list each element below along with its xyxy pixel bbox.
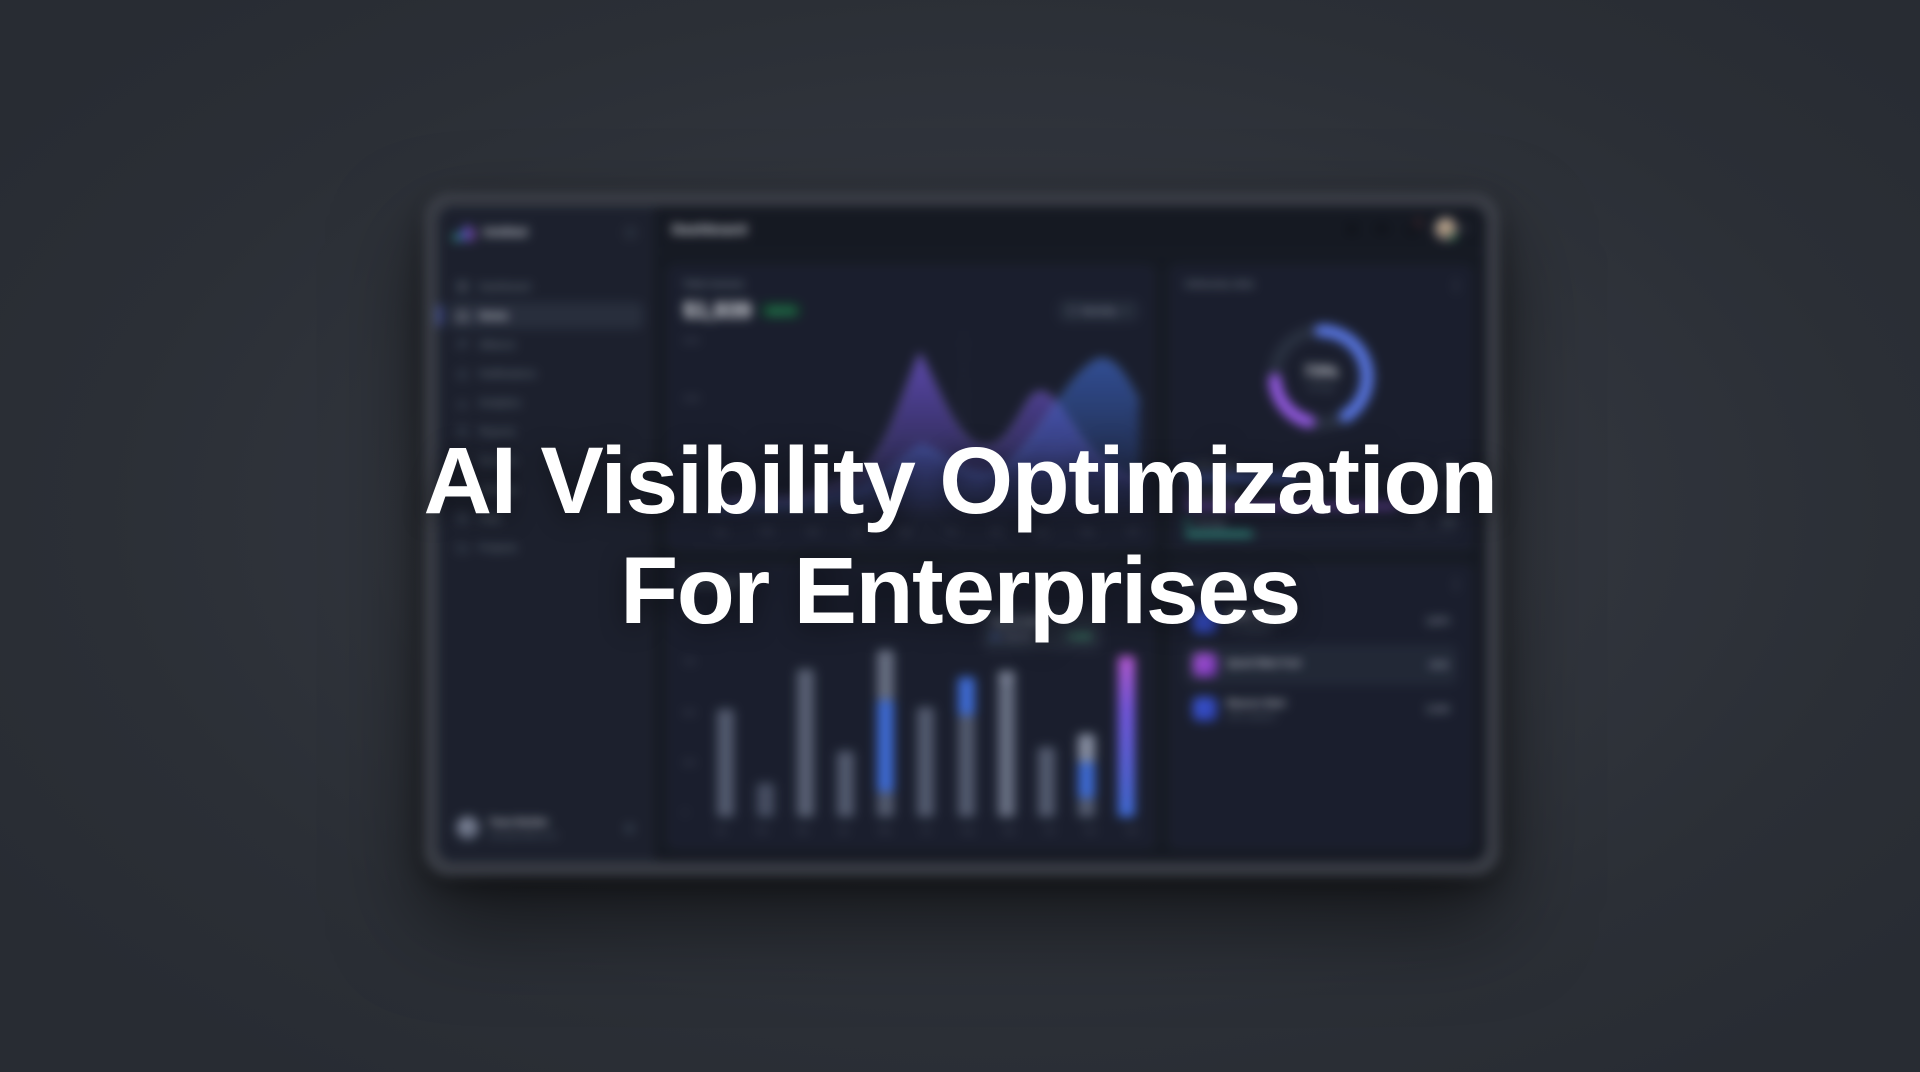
sidebar-item-label: Analytics: [479, 397, 521, 409]
donut-card-label: Unbounty stats: [1185, 279, 1254, 290]
x-tick: Mar: [797, 826, 810, 835]
document-icon: [456, 425, 469, 438]
revenue-metric-row: $1,939 +28.3% Monthly: [683, 297, 1139, 324]
right-column: Unbounty stats: [1168, 264, 1474, 850]
x-axis-labels: Jan Feb Mar Apr May Jun Jul Aug Sep Oc: [715, 527, 1139, 536]
series-dot-icon: [993, 634, 998, 639]
revenue-delta-badge: +28.3%: [760, 303, 801, 318]
x-tick: Dec: [1126, 826, 1139, 835]
y-tick: 250: [683, 758, 713, 767]
bar-card-head: Data amount: [683, 578, 1139, 593]
sidebar-item-help[interactable]: Help: [448, 505, 643, 532]
grid-icon: [456, 280, 469, 293]
avatar: [456, 816, 480, 840]
y-tick: 750: [683, 657, 713, 666]
chevron-down-icon[interactable]: [1462, 227, 1468, 231]
bar-column[interactable]: [877, 605, 894, 817]
legend-dot-icon: [1185, 492, 1190, 497]
list-item-meta: Quant Main Fuel: [1227, 658, 1301, 672]
x-tick: Aug: [961, 826, 974, 835]
line-plot-area: [715, 332, 1139, 518]
data-amount-card: Data amount 1000 750 500 250 0: [666, 563, 1156, 850]
help-icon: [456, 512, 469, 525]
bar-column[interactable]: [958, 605, 975, 817]
sidebar: Untitled Dashboard Home Alliance: [438, 206, 654, 862]
legend-top: API Usage 24 41%: [1185, 461, 1457, 471]
legend-pct: 34%: [1431, 490, 1457, 499]
donut-value: 73%: [1304, 362, 1338, 382]
x-tick: Sep: [1002, 826, 1015, 835]
legend-dot-icon: [1185, 464, 1190, 469]
sidebar-item-reports[interactable]: Reports: [448, 418, 643, 445]
sidebar-user-profile[interactable]: Team Builder team@untitled.com: [448, 808, 643, 848]
y-tick: 500: [683, 708, 713, 717]
tooltip-series: Total dB: [1003, 632, 1032, 641]
legend-top: Storage 11 25%: [1185, 517, 1457, 527]
x-tick: Jun: [920, 826, 932, 835]
sidebar-item-label: Settings: [479, 484, 517, 496]
legend-row: Storage 11 25%: [1185, 517, 1457, 536]
sidebar-nav: Dashboard Home Alliance Notifications: [438, 273, 653, 561]
bar-column[interactable]: [1118, 605, 1135, 817]
list-item-title: Beacon Start: [1227, 698, 1286, 709]
adopters-list: Blaze / Airport API adoption 3,874 Quant…: [1185, 601, 1457, 729]
sidebar-item-label: Dashboard: [479, 281, 530, 293]
adopters-card-head: Recent adopters: [1185, 578, 1457, 593]
sidebar-user-meta: Team Builder team@untitled.com: [489, 817, 558, 840]
bell-icon: [456, 367, 469, 380]
tooltip-row: Total dB +3,418: [993, 632, 1091, 641]
bar-column[interactable]: [717, 605, 734, 817]
legend-row: Bandwidth 18 34%: [1185, 489, 1457, 508]
sidebar-item-security[interactable]: Security 4: [448, 447, 643, 474]
tooltip-date: Sep 19, 2025: [993, 618, 1091, 627]
list-item-subtitle: API adoption: [1227, 624, 1291, 633]
legend-name: Storage: [1196, 517, 1226, 527]
home-icon: [456, 309, 469, 322]
date-range-button[interactable]: Monthly: [1058, 300, 1140, 322]
brand-name: Untitled: [483, 227, 527, 239]
legend-name: Bandwidth: [1196, 489, 1236, 499]
chevron-down-icon: [1123, 309, 1129, 313]
shield-icon: [456, 454, 469, 467]
page-title: Dashboard: [672, 221, 747, 237]
y-tick: 1000: [683, 451, 713, 460]
bar-column[interactable]: [837, 605, 854, 817]
y-tick: 2500: [683, 394, 713, 403]
line-plot-svg: [715, 332, 1139, 518]
sidebar-item-projects[interactable]: Projects: [448, 534, 643, 561]
x-tick: Jan: [715, 527, 727, 536]
x-tick: May: [898, 527, 912, 536]
revenue-label: Total revenue: [683, 279, 744, 290]
donut-legend: API Usage 24 41% Bandwidth: [1185, 457, 1457, 536]
sidebar-item-label: Projects: [479, 542, 517, 554]
revenue-card-head: Total revenue: [683, 279, 1139, 290]
notification-dot: [1415, 219, 1422, 226]
donut-card-head: Unbounty stats: [1185, 279, 1457, 294]
x-tick: Jun: [946, 527, 958, 536]
list-item-meta: Blaze / Airport API adoption: [1227, 610, 1291, 633]
sidebar-item-home[interactable]: Home: [448, 302, 643, 329]
donut-chart: 73% average: [1262, 318, 1380, 436]
tooltip-value: +3,418: [1066, 632, 1091, 641]
users-icon: [456, 338, 469, 351]
y-tick: 0: [683, 509, 713, 518]
x-tick: Nov: [1084, 826, 1097, 835]
legend-count: 18: [1416, 490, 1425, 499]
device-frame: Untitled Dashboard Home Alliance: [424, 192, 1500, 876]
legend-progress-track: [1185, 532, 1457, 536]
dashboard-content: Total revenue $1,939 +28.3% Monthly: [654, 252, 1486, 862]
list-item[interactable]: Beacon Start SDK adoption 2,018: [1185, 689, 1457, 729]
legend-dot-icon: [1185, 520, 1190, 525]
legend-top: Bandwidth 18 34%: [1185, 489, 1457, 499]
bar-x-axis-labels: Jan Feb Mar Apr May Jun Aug Sep Oct No: [715, 826, 1139, 835]
topbar-avatar[interactable]: [1435, 218, 1468, 240]
sidebar-item-analytics[interactable]: Analytics: [448, 389, 643, 416]
x-tick: Mar: [807, 527, 820, 536]
apps-grid-icon[interactable]: [1345, 222, 1359, 236]
sidebar-item-label: Help: [479, 513, 501, 525]
x-tick: May: [878, 826, 892, 835]
topbar-actions: [1345, 218, 1468, 240]
dashboard-screenshot: Untitled Dashboard Home Alliance: [424, 192, 1500, 876]
bar-column[interactable]: [917, 605, 934, 817]
revenue-line-chart: 5000 2500 1000 0: [683, 330, 1139, 536]
x-tick: Feb: [755, 826, 768, 835]
calendar-icon: [1068, 306, 1077, 315]
x-tick: Oct: [1044, 826, 1056, 835]
collapse-icon[interactable]: [624, 226, 637, 239]
legend-progress-track: [1185, 504, 1457, 508]
recent-adopters-card: Recent adopters Blaze / Airport API adop…: [1168, 563, 1474, 850]
legend-row: API Usage 24 41%: [1185, 461, 1457, 480]
list-item-title: Blaze / Airport: [1227, 610, 1291, 621]
list-item[interactable]: Blaze / Airport API adoption 3,874: [1185, 601, 1457, 641]
list-item-title: Quant Main Fuel: [1227, 658, 1301, 669]
folder-icon: [456, 541, 469, 554]
brand[interactable]: Untitled: [438, 206, 653, 251]
donut-sublabel: average: [1307, 383, 1334, 392]
legend-pct: 41%: [1431, 462, 1457, 471]
bar-column[interactable]: [797, 605, 814, 817]
sidebar-user-name: Team Builder: [489, 817, 558, 828]
sidebar-item-dashboard[interactable]: Dashboard: [448, 273, 643, 300]
x-tick: Jul: [991, 527, 1001, 536]
list-item-subtitle: SDK adoption: [1227, 712, 1286, 721]
app-icon: [1193, 609, 1217, 633]
sidebar-item-notifications[interactable]: Notifications: [448, 360, 643, 387]
chart-icon: [456, 396, 469, 409]
adopters-card-label: Recent adopters: [1185, 578, 1259, 589]
revenue-value: $1,939: [683, 297, 751, 324]
bell-icon[interactable]: [1405, 222, 1419, 236]
bar-chart-tooltip: Sep 19, 2025 Total dB +3,418: [983, 609, 1101, 650]
legend-pct: 25%: [1431, 518, 1457, 527]
list-item[interactable]: Quant Main Fuel 2003: [1185, 645, 1457, 685]
donut-wrapper: 73% average: [1185, 298, 1457, 455]
sidebar-item-label: Security: [479, 455, 517, 467]
x-tick: Jan: [715, 826, 727, 835]
sidebar-item-alliance[interactable]: Alliance: [448, 331, 643, 358]
main-area: Dashboard: [654, 206, 1486, 862]
x-tick: Aug: [1034, 527, 1047, 536]
more-options-icon[interactable]: [1137, 578, 1140, 593]
date-range-label: Monthly: [1083, 306, 1118, 316]
bar-y-axis-labels: 1000 750 500 250 0: [683, 607, 713, 817]
status-online-indicator: [1450, 234, 1457, 241]
list-item-value: 2,018: [1426, 704, 1449, 714]
legend-count: 11: [1417, 518, 1425, 527]
app-screen: Untitled Dashboard Home Alliance: [438, 206, 1486, 862]
list-item-value: 2003: [1429, 660, 1449, 670]
card-icon[interactable]: [1375, 222, 1389, 236]
y-axis-labels: 5000 2500 1000 0: [683, 336, 713, 518]
logo-bars-icon: [454, 224, 474, 241]
stats-donut-card: Unbounty stats: [1168, 264, 1474, 551]
topbar: Dashboard: [654, 206, 1486, 252]
sidebar-item-label: Reports: [479, 426, 516, 438]
sidebar-item-label: Home: [479, 310, 508, 322]
sidebar-item-settings[interactable]: Settings: [448, 476, 643, 503]
y-tick: 5000: [683, 336, 713, 345]
sidebar-item-label: Alliance: [479, 339, 516, 351]
x-tick: Apr: [838, 826, 850, 835]
list-item-meta: Beacon Start SDK adoption: [1227, 698, 1286, 721]
sidebar-item-label: Notifications: [479, 368, 536, 380]
x-tick: Sep: [1081, 527, 1094, 536]
donut-center: 73% average: [1262, 318, 1380, 436]
sidebar-user-email: team@untitled.com: [489, 831, 558, 840]
legend-name: API Usage: [1196, 461, 1237, 471]
x-tick: Oct: [1127, 527, 1139, 536]
bar-card-label: Data amount: [683, 578, 741, 589]
sidebar-item-badge: 4: [630, 456, 635, 466]
app-icon: [1193, 653, 1217, 677]
y-tick: 0: [683, 808, 713, 817]
legend-progress-track: [1185, 476, 1457, 480]
list-item-value: 3,874: [1426, 616, 1449, 626]
sidebar-spacer: [438, 561, 653, 808]
bar-column[interactable]: [757, 605, 774, 817]
x-tick: Apr: [853, 527, 865, 536]
gear-icon: [456, 483, 469, 496]
gear-icon[interactable]: [624, 823, 635, 834]
x-tick: Feb: [760, 527, 773, 536]
app-icon: [1193, 697, 1217, 721]
more-options-icon[interactable]: [1455, 279, 1458, 294]
left-column: Total revenue $1,939 +28.3% Monthly: [666, 264, 1156, 850]
more-options-icon[interactable]: [1455, 578, 1458, 593]
revenue-card: Total revenue $1,939 +28.3% Monthly: [666, 264, 1156, 551]
y-tick: 1000: [683, 607, 713, 616]
legend-count: 24: [1416, 462, 1425, 471]
data-amount-bar-chart: 1000 750 500 250 0: [683, 601, 1139, 835]
